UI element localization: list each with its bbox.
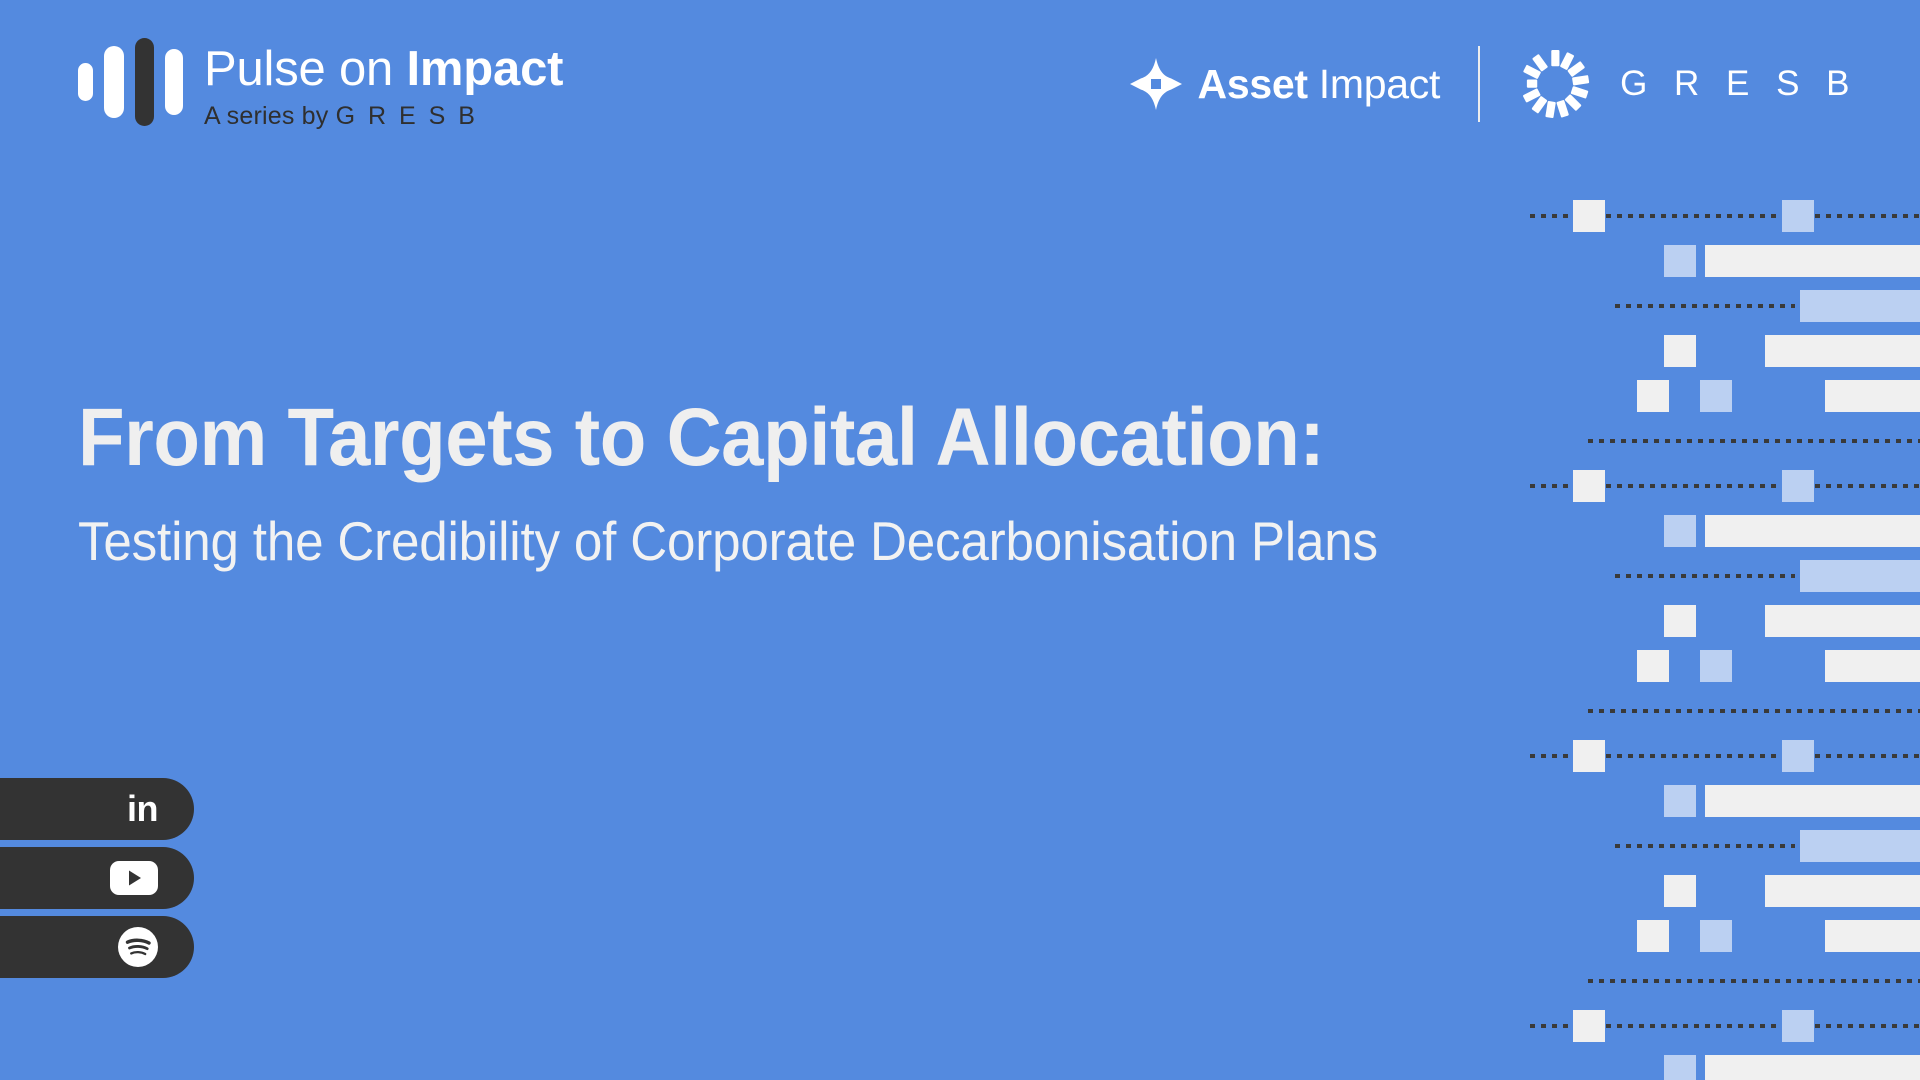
deco-dotted-line-17-0 (1588, 979, 1920, 983)
deco-square-10-0 (1637, 650, 1669, 682)
linkedin-icon: in (127, 791, 158, 827)
deco-bar-14 (1800, 830, 1920, 862)
youtube-icon (110, 861, 158, 895)
deco-square-1 (1664, 245, 1696, 277)
deco-bar-7 (1705, 515, 1920, 547)
brand-title-regular: Pulse on (204, 42, 407, 96)
deco-dotted-line-2-0 (1615, 304, 1795, 308)
deco-square-16-1 (1700, 920, 1732, 952)
deco-square-18-1 (1782, 1010, 1814, 1042)
impact-word: Impact (1308, 61, 1440, 107)
deco-square-6-0 (1573, 470, 1605, 502)
deco-dotted-line-12-1 (1606, 754, 1782, 758)
deco-dotted-line-14-0 (1615, 844, 1795, 848)
header: Pulse on Impact A series by G R E S B As… (0, 0, 1920, 170)
deco-square-12-1 (1782, 740, 1814, 772)
deco-square-6-1 (1782, 470, 1814, 502)
asset-impact-logo: Asset Impact (1130, 58, 1441, 110)
deco-square-13 (1664, 785, 1696, 817)
deco-square-12-0 (1573, 740, 1605, 772)
gresb-ring-icon (1518, 47, 1592, 121)
deco-square-19 (1664, 1055, 1696, 1080)
deco-bar-8 (1800, 560, 1920, 592)
deco-square-18-0 (1573, 1010, 1605, 1042)
deco-dotted-line-18-0 (1530, 1024, 1573, 1028)
asset-impact-wordmark: Asset Impact (1198, 60, 1441, 108)
deco-square-16-0 (1637, 920, 1669, 952)
deco-bar-4 (1825, 380, 1920, 412)
page-subtitle: Testing the Credibility of Corporate Dec… (78, 508, 1378, 574)
social-link-spotify[interactable] (0, 916, 194, 978)
social-links: in (0, 778, 252, 978)
brand-text: Pulse on Impact A series by G R E S B (204, 38, 563, 132)
brand-lockup: Pulse on Impact A series by G R E S B (78, 38, 563, 132)
deco-dotted-line-18-2 (1815, 1024, 1920, 1028)
deco-square-0-1 (1782, 200, 1814, 232)
brand-tagline: A series by G R E S B (204, 100, 563, 132)
deco-dotted-line-8-0 (1615, 574, 1795, 578)
deco-dotted-line-6-2 (1815, 484, 1920, 488)
deco-bar-15 (1765, 875, 1920, 907)
deco-square-15 (1664, 875, 1696, 907)
deco-square-3 (1664, 335, 1696, 367)
headline-block: From Targets to Capital Allocation: Test… (78, 392, 1476, 574)
deco-dotted-line-0-2 (1815, 214, 1920, 218)
social-link-linkedin[interactable]: in (0, 778, 194, 840)
spotify-icon (118, 927, 158, 967)
logo-divider (1478, 46, 1480, 122)
gresb-logo: G R E S B (1518, 47, 1858, 121)
deco-dotted-line-5-0 (1588, 439, 1920, 443)
brand-title-bold: Impact (407, 42, 564, 96)
deco-square-4-0 (1637, 380, 1669, 412)
pulse-bars-logo (78, 38, 183, 126)
pulse-bar-1 (78, 63, 93, 101)
deco-dotted-line-0-1 (1606, 214, 1782, 218)
deco-bar-1 (1705, 245, 1920, 277)
deco-dotted-line-12-0 (1530, 754, 1573, 758)
brand-title: Pulse on Impact (204, 40, 563, 98)
brand-tagline-prefix: A series by (204, 102, 336, 130)
four-point-star-icon (1130, 58, 1182, 110)
deco-bar-3 (1765, 335, 1920, 367)
deco-bar-9 (1765, 605, 1920, 637)
deco-dotted-line-18-1 (1606, 1024, 1782, 1028)
deco-dotted-line-12-2 (1815, 754, 1920, 758)
pulse-bar-2 (104, 46, 124, 118)
gresb-wordmark: G R E S B (1620, 64, 1858, 104)
deco-dotted-line-11-0 (1588, 709, 1920, 713)
deco-dotted-line-0-0 (1530, 214, 1573, 218)
deco-square-10-1 (1700, 650, 1732, 682)
deco-bar-13 (1705, 785, 1920, 817)
deco-dotted-line-6-0 (1530, 484, 1573, 488)
deco-square-4-1 (1700, 380, 1732, 412)
deco-bar-10 (1825, 650, 1920, 682)
partner-logos: Asset Impact (1130, 46, 1858, 122)
social-link-youtube[interactable] (0, 847, 194, 909)
deco-dotted-line-6-1 (1606, 484, 1782, 488)
page-title: From Targets to Capital Allocation: (78, 392, 1378, 484)
deco-bar-2 (1800, 290, 1920, 322)
pulse-bar-3 (135, 38, 153, 126)
deco-square-9 (1664, 605, 1696, 637)
deco-bar-16 (1825, 920, 1920, 952)
brand-tagline-gresb: G R E S B (336, 102, 478, 130)
asset-word: Asset (1198, 61, 1308, 107)
pulse-bar-4 (165, 49, 183, 115)
deco-bar-19 (1705, 1055, 1920, 1080)
deco-square-0-0 (1573, 200, 1605, 232)
deco-square-7 (1664, 515, 1696, 547)
